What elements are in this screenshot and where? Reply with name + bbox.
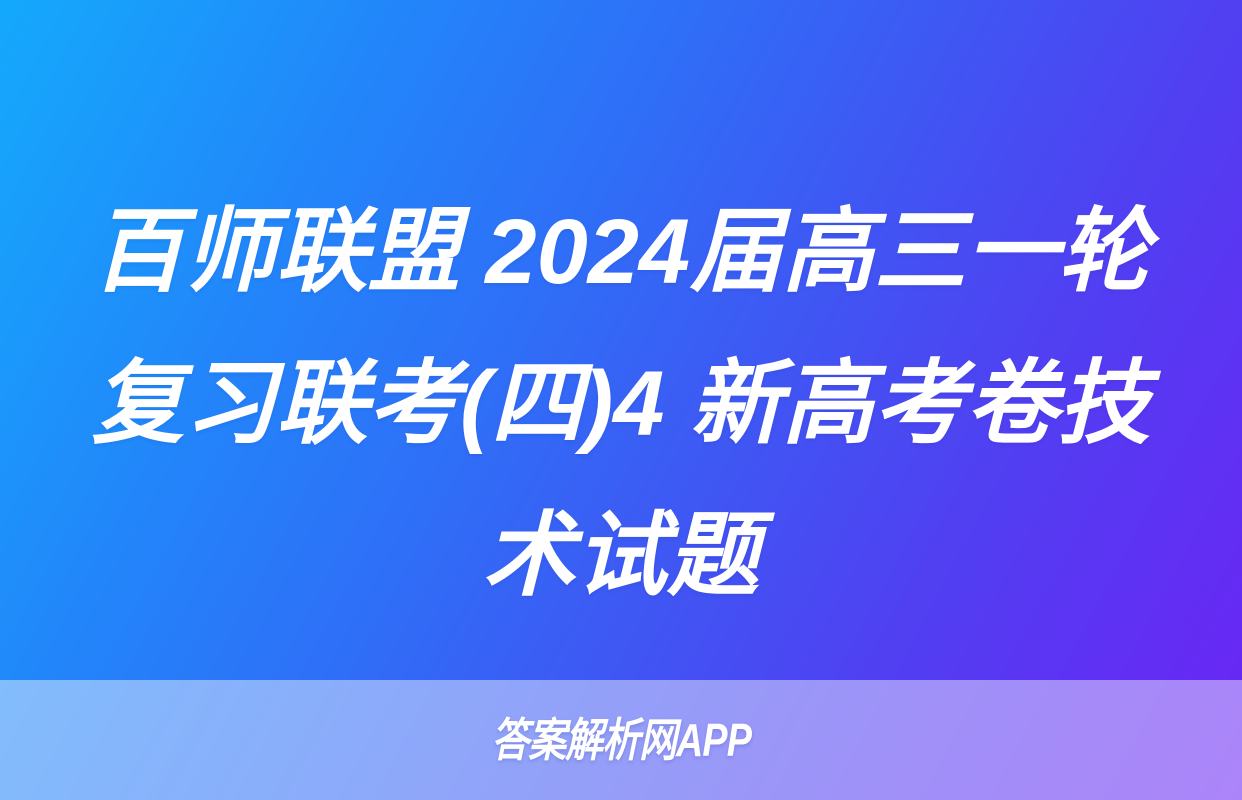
watermark-label: 答案解析网APP bbox=[491, 717, 751, 763]
poster-background: 百师联盟 2024届高三一轮复习联考(四)4 新高考卷技术试题 答案解析网APP bbox=[0, 0, 1242, 800]
page-title: 百师联盟 2024届高三一轮复习联考(四)4 新高考卷技术试题 bbox=[0, 176, 1242, 632]
watermark-band: 答案解析网APP bbox=[0, 680, 1242, 800]
